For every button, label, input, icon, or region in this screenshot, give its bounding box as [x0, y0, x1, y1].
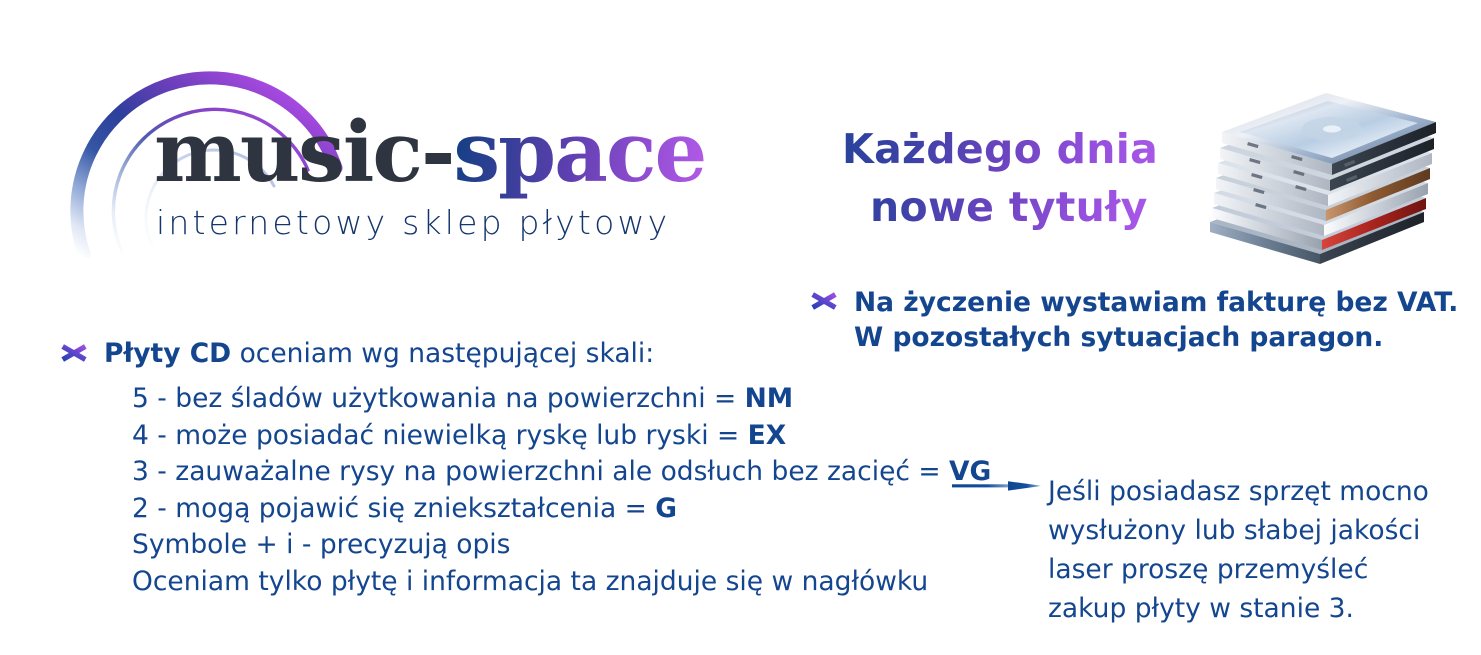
grade-description: mogą pojawić się zniekształcenia =: [175, 493, 655, 524]
grade-code: EX: [748, 420, 787, 451]
list-item: 4 - może posiadać niewielką ryskę lub ry…: [132, 418, 938, 454]
grading-scale-list: 5 - bez śladów użytkowania na powierzchn…: [104, 381, 938, 600]
grade-number: 4 -: [132, 420, 175, 451]
logo-tagline: internetowy sklep płytowy: [156, 203, 670, 242]
logo-word-music: music-: [154, 103, 453, 201]
list-item: 2 - mogą pojawić się zniekształcenia = G: [132, 491, 938, 527]
cd-jewel-case-stack-photo: [1192, 72, 1442, 267]
grading-heading-bold: Płyty CD: [104, 338, 231, 369]
grade-description: bez śladów użytkowania na powierzchni =: [175, 383, 744, 414]
slogan-line-2: nowe tytuły: [842, 178, 1158, 236]
grading-heading-rest: oceniam wg następującej skali:: [231, 338, 654, 369]
advice-line-1: Jeśli posiadasz sprzęt mocno: [1048, 473, 1448, 512]
grade-description: może posiadać niewielką ryskę lub ryski …: [175, 420, 747, 451]
asterisk-bullet-icon: [58, 337, 90, 369]
invoice-note-line-2: W pozostałych sytuacjach paragon.: [854, 320, 1428, 355]
slogan-line-1: Każdego dnia: [842, 120, 1158, 178]
list-item: Symbole + i - precyzują opis: [132, 527, 938, 563]
grade-code: NM: [745, 383, 794, 414]
grading-heading: Płyty CD oceniam wg następującej skali:: [104, 337, 938, 370]
invoice-note-line-1: Na życzenie wystawiam fakturę bez VAT.: [854, 285, 1428, 320]
asterisk-bullet-icon: [808, 285, 840, 317]
grade-code: G: [655, 493, 677, 524]
advice-line-3: laser proszę przemyśleć: [1048, 551, 1448, 590]
grading-scale-block: Płyty CD oceniam wg następującej skali: …: [58, 337, 938, 600]
grade-number: 2 -: [132, 493, 175, 524]
grade-description: zauważalne rysy na powierzchni ale odsłu…: [175, 456, 949, 487]
arrow-right-icon: [952, 478, 1042, 494]
brand-logo[interactable]: music-space internetowy sklep płytowy: [68, 18, 788, 258]
slogan: Każdego dnia nowe tytuły: [842, 120, 1158, 236]
list-item: 3 - zauważalne rysy na powierzchni ale o…: [132, 454, 938, 490]
grade-number: 3 -: [132, 456, 175, 487]
grade-number: 5 -: [132, 383, 175, 414]
advice-line-2: wysłużony lub słabej jakości: [1048, 512, 1448, 551]
list-item: Oceniam tylko płytę i informacja ta znaj…: [132, 564, 938, 600]
logo-wordmark: music-space: [154, 111, 705, 194]
advice-block: Jeśli posiadasz sprzęt mocno wysłużony l…: [1048, 473, 1448, 629]
logo-word-space: space: [453, 103, 705, 201]
list-item: 5 - bez śladów użytkowania na powierzchn…: [132, 381, 938, 417]
advice-line-4: zakup płyty w stanie 3.: [1048, 590, 1448, 629]
